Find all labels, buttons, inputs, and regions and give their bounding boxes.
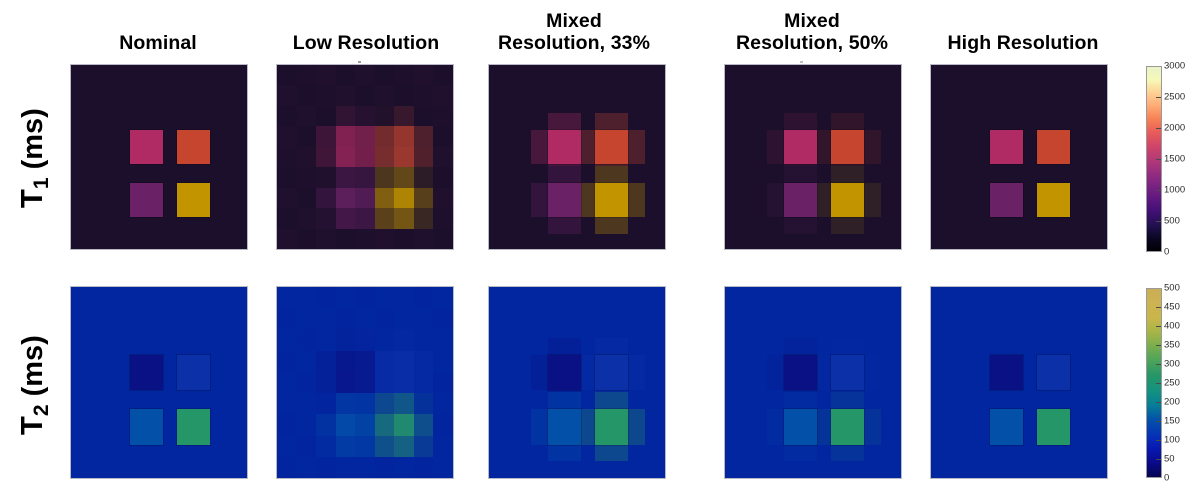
colorbar-tick-label: 200 xyxy=(1164,397,1180,408)
heatmap-vial-bottom-right xyxy=(831,409,864,444)
heatmap-blur-halo xyxy=(548,166,581,183)
heatmap-vial-top-right xyxy=(1037,355,1070,390)
colorbar-tick-mark xyxy=(1156,459,1161,460)
heatmap-blur-halo xyxy=(831,338,864,355)
heatmap-pixel xyxy=(355,351,375,373)
heatmap-pixel xyxy=(414,457,434,479)
heatmap-blur-halo xyxy=(628,130,645,164)
heatmap-pixel xyxy=(297,393,317,415)
heatmap-pixel xyxy=(336,126,356,147)
heatmap-blur-halo xyxy=(767,409,784,444)
heatmap-pixel xyxy=(375,229,395,250)
heatmap-pixel xyxy=(355,229,375,250)
heatmap-vial-top-left xyxy=(990,355,1023,390)
heatmap-vial-bottom-left xyxy=(548,409,581,444)
heatmap-pixel xyxy=(336,351,356,373)
row-label-t1-unit: (ms) xyxy=(17,108,49,177)
heatmap-vial-top-right xyxy=(1037,130,1070,164)
heatmap-blur-halo xyxy=(864,183,881,217)
figure-canvas: T1 (ms) T2 (ms) Nominal Low Resolution M… xyxy=(0,0,1199,499)
heatmap-pixel xyxy=(316,208,336,229)
heatmap-blur-halo xyxy=(595,338,628,355)
heatmap-pixel xyxy=(297,329,317,351)
heatmap-pixel xyxy=(375,329,395,351)
heatmap-pixel xyxy=(355,167,375,188)
heatmap-pixel xyxy=(414,393,434,415)
colorbar-tick-label: 250 xyxy=(1164,378,1180,389)
heatmap-pixel xyxy=(355,457,375,479)
heatmap-pixel xyxy=(355,126,375,147)
heatmap-pixel xyxy=(394,167,414,188)
heatmap-pixel xyxy=(375,393,395,415)
artifact-speck-mixed-50 xyxy=(800,61,803,63)
heatmap-pixel xyxy=(336,167,356,188)
heatmap-pixel xyxy=(336,65,356,86)
heatmap-blur-halo xyxy=(784,113,817,130)
heatmap-pixel xyxy=(414,229,434,250)
heatmap-pixel xyxy=(316,106,336,127)
heatmap-vial-top-left xyxy=(130,355,163,390)
heatmap-pixel xyxy=(277,436,297,458)
heatmap-pixel xyxy=(355,85,375,106)
heatmap-pixel xyxy=(316,351,336,373)
heatmap-pixel xyxy=(355,188,375,209)
heatmap-pixel xyxy=(316,457,336,479)
artifact-speck-low-res xyxy=(358,61,361,63)
heatmap-pixel xyxy=(316,65,336,86)
heatmap-pixel xyxy=(375,414,395,436)
row-axis-label-t2: T2 (ms) xyxy=(14,285,54,485)
heatmap-pixel xyxy=(355,106,375,127)
heatmap-pixel xyxy=(277,106,297,127)
heatmap-pixel xyxy=(355,329,375,351)
colorbar-tick-label: 500 xyxy=(1164,216,1180,227)
heatmap-pixel xyxy=(277,167,297,188)
heatmap-blur-halo xyxy=(595,217,628,234)
heatmap-pixel xyxy=(297,351,317,373)
heatmap-pixel xyxy=(336,106,356,127)
heatmap-pixel xyxy=(394,85,414,106)
row-label-t1-sub: 1 xyxy=(30,177,53,189)
heatmap-blur-halo xyxy=(531,409,548,444)
heatmap-vial-bottom-right xyxy=(595,183,628,217)
heatmap-blur-halo xyxy=(784,338,817,355)
colorbar-tick-mark xyxy=(1156,383,1161,384)
heatmap-pixel xyxy=(355,65,375,86)
heatmap-pixel xyxy=(277,351,297,373)
heatmap-vial-top-right xyxy=(595,355,628,390)
heatmap-blur-halo xyxy=(831,166,864,183)
heatmap-pixel xyxy=(433,208,453,229)
colorbar-tick-label: 300 xyxy=(1164,359,1180,370)
heatmap-blur-halo xyxy=(864,409,881,444)
heatmap-pixel xyxy=(394,229,414,250)
heatmap-pixel xyxy=(277,393,297,415)
colorbar-tick-mark xyxy=(1156,440,1161,441)
heatmap-pixel xyxy=(277,457,297,479)
heatmap-pixel xyxy=(433,147,453,168)
row-axis-label-t1: T1 (ms) xyxy=(14,58,54,258)
heatmap-pixel xyxy=(433,329,453,351)
heatmap-pixel xyxy=(433,106,453,127)
heatmap-blur-halo xyxy=(784,217,817,234)
heatmap-blur-halo xyxy=(831,392,864,409)
row-label-t2-main: T xyxy=(14,416,49,435)
colorbar-tick-label: 100 xyxy=(1164,435,1180,446)
heatmap-pixel xyxy=(277,188,297,209)
colorbar-tick-label: 150 xyxy=(1164,416,1180,427)
heatmap-vial-bottom-left xyxy=(990,183,1023,217)
heatmap-pixel xyxy=(277,208,297,229)
heatmap-blur-halo xyxy=(579,130,596,164)
heatmap-pixel xyxy=(355,393,375,415)
heatmap-blur-halo xyxy=(595,166,628,183)
colorbar-tick-mark xyxy=(1156,402,1161,403)
panel-t2-high-res xyxy=(930,286,1108,479)
heatmap-pixel xyxy=(355,287,375,309)
heatmap-pixel xyxy=(375,208,395,229)
heatmap-pixel xyxy=(277,65,297,86)
heatmap-blur-halo xyxy=(531,130,548,164)
heatmap-pixel xyxy=(316,436,336,458)
heatmap-blur-halo xyxy=(595,113,628,130)
heatmap-pixel xyxy=(336,457,356,479)
heatmap-pixel xyxy=(394,147,414,168)
heatmap-pixel xyxy=(355,208,375,229)
heatmap-pixel xyxy=(433,457,453,479)
colorbar-tick-mark xyxy=(1156,326,1161,327)
heatmap-pixel xyxy=(277,372,297,394)
colorbar-tick-label: 450 xyxy=(1164,302,1180,313)
heatmap-blur-halo xyxy=(831,113,864,130)
heatmap-pixel xyxy=(355,414,375,436)
heatmap-pixel xyxy=(433,167,453,188)
heatmap-pixel xyxy=(414,147,434,168)
heatmap-pixel xyxy=(394,188,414,209)
colorbar-tick-mark xyxy=(1156,345,1161,346)
column-title-nominal-line1: Nominal xyxy=(70,33,246,55)
heatmap-pixel xyxy=(336,147,356,168)
column-title-mixed-33: Mixed Resolution, 33% xyxy=(480,11,668,55)
heatmap-pixel xyxy=(277,229,297,250)
heatmap-pixel xyxy=(316,414,336,436)
column-title-mixed-50: Mixed Resolution, 50% xyxy=(718,11,906,55)
heatmap-vial-bottom-left xyxy=(548,183,581,217)
heatmap-pixel xyxy=(433,393,453,415)
heatmap-pixel xyxy=(336,308,356,330)
heatmap-pixel xyxy=(336,208,356,229)
column-title-mixed-50-line1: Mixed xyxy=(718,11,906,33)
heatmap-pixel xyxy=(297,126,317,147)
colorbar-tick-label: 50 xyxy=(1164,454,1175,465)
heatmap-blur-halo xyxy=(864,355,881,390)
heatmap-pixel xyxy=(394,372,414,394)
colorbar-tick-label: 2000 xyxy=(1164,123,1185,134)
panel-t2-low-res xyxy=(276,286,454,479)
heatmap-pixel xyxy=(414,436,434,458)
heatmap-vial-bottom-right xyxy=(1037,409,1070,444)
heatmap-pixel xyxy=(336,188,356,209)
heatmap-pixel xyxy=(375,167,395,188)
colorbar-tick-label: 350 xyxy=(1164,340,1180,351)
column-title-low-res: Low Resolution xyxy=(276,33,456,55)
heatmap-pixel xyxy=(297,65,317,86)
heatmap-pixel xyxy=(394,393,414,415)
heatmap-blur-halo xyxy=(548,392,581,409)
row-label-t2-unit: (ms) xyxy=(17,335,49,404)
heatmap-blur-halo xyxy=(595,392,628,409)
heatmap-vial-bottom-left xyxy=(784,183,817,217)
heatmap-blur-halo xyxy=(864,130,881,164)
heatmap-pixel xyxy=(336,229,356,250)
heatmap-pixel xyxy=(336,372,356,394)
heatmap-pixel xyxy=(375,351,395,373)
colorbar-tick-label: 0 xyxy=(1164,473,1169,484)
heatmap-pixel xyxy=(375,126,395,147)
heatmap-pixel xyxy=(433,126,453,147)
heatmap-pixel xyxy=(394,414,414,436)
heatmap-blur-halo xyxy=(767,355,784,390)
row-label-t2-sub: 2 xyxy=(30,404,53,416)
heatmap-vial-bottom-right xyxy=(595,409,628,444)
heatmap-pixel xyxy=(297,457,317,479)
heatmap-pixel xyxy=(414,65,434,86)
row-label-t1-main: T xyxy=(14,189,49,208)
heatmap-vial-bottom-left xyxy=(130,409,163,444)
heatmap-blur-halo xyxy=(548,217,581,234)
heatmap-pixel xyxy=(277,329,297,351)
heatmap-vial-top-right xyxy=(831,130,864,164)
heatmap-pixel xyxy=(277,147,297,168)
column-title-high-res: High Resolution xyxy=(930,33,1116,55)
heatmap-pixel xyxy=(433,287,453,309)
heatmap-pixel xyxy=(297,147,317,168)
heatmap-pixel xyxy=(394,126,414,147)
heatmap-pixel xyxy=(336,393,356,415)
heatmap-pixel xyxy=(355,147,375,168)
heatmap-pixel xyxy=(297,308,317,330)
heatmap-pixel xyxy=(433,229,453,250)
panel-t2-mixed-50 xyxy=(724,286,902,479)
heatmap-vial-top-left xyxy=(784,355,817,390)
heatmap-vial-top-left xyxy=(548,355,581,390)
heatmap-pixel xyxy=(336,85,356,106)
heatmap-vial-bottom-left xyxy=(784,409,817,444)
heatmap-pixel xyxy=(414,167,434,188)
colorbar-tick-label: 3000 xyxy=(1164,61,1185,72)
heatmap-pixel xyxy=(394,106,414,127)
heatmap-blur-halo xyxy=(784,445,817,462)
heatmap-blur-halo xyxy=(784,166,817,183)
heatmap-blur-halo xyxy=(548,113,581,130)
heatmap-pixel xyxy=(277,287,297,309)
heatmap-pixel xyxy=(336,329,356,351)
column-title-mixed-33-line2: Resolution, 33% xyxy=(480,33,668,55)
heatmap-pixel xyxy=(394,329,414,351)
colorbar-tick-label: 500 xyxy=(1164,283,1180,294)
heatmap-blur-halo xyxy=(595,445,628,462)
heatmap-pixel xyxy=(316,229,336,250)
heatmap-vial-top-left xyxy=(784,130,817,164)
heatmap-blur-halo xyxy=(579,355,596,390)
heatmap-pixel xyxy=(297,106,317,127)
colorbar-tick-mark xyxy=(1156,364,1161,365)
heatmap-pixel xyxy=(297,372,317,394)
colorbar-tick-label: 1000 xyxy=(1164,185,1185,196)
heatmap-vial-top-right xyxy=(177,355,210,390)
heatmap-blur-halo xyxy=(767,130,784,164)
heatmap-pixel xyxy=(414,106,434,127)
heatmap-pixel xyxy=(297,167,317,188)
heatmap-vial-top-left xyxy=(130,130,163,164)
heatmap-blur-halo xyxy=(531,355,548,390)
heatmap-pixel xyxy=(316,287,336,309)
heatmap-pixel xyxy=(414,414,434,436)
heatmap-pixel xyxy=(316,393,336,415)
heatmap-pixel xyxy=(414,287,434,309)
heatmap-pixel xyxy=(375,106,395,127)
column-title-nominal: Nominal xyxy=(70,33,246,55)
colorbar-t2: 050100150200250300350400450500 xyxy=(1146,288,1198,478)
heatmap-vial-bottom-right xyxy=(831,183,864,217)
heatmap-pixel xyxy=(394,308,414,330)
panel-t1-high-res xyxy=(930,64,1108,250)
heatmap-pixel xyxy=(297,287,317,309)
heatmap-pixel xyxy=(355,436,375,458)
heatmap-pixel xyxy=(277,126,297,147)
heatmap-blur-halo xyxy=(628,355,645,390)
heatmap-pixel xyxy=(414,351,434,373)
heatmap-vial-top-left xyxy=(548,130,581,164)
heatmap-pixel xyxy=(375,287,395,309)
heatmap-pixel xyxy=(433,308,453,330)
panel-t2-mixed-33 xyxy=(488,286,666,479)
heatmap-pixel xyxy=(316,85,336,106)
heatmap-pixel xyxy=(316,147,336,168)
column-title-mixed-33-line1: Mixed xyxy=(480,11,668,33)
panel-t1-low-res xyxy=(276,64,454,250)
heatmap-blur-halo xyxy=(548,445,581,462)
heatmap-pixel xyxy=(316,329,336,351)
heatmap-pixel xyxy=(375,147,395,168)
colorbar-tick-mark xyxy=(1156,190,1161,191)
heatmap-pixel xyxy=(277,414,297,436)
heatmap-pixel xyxy=(394,65,414,86)
heatmap-pixel xyxy=(297,85,317,106)
panel-t1-nominal xyxy=(70,64,248,250)
colorbar-t1: 050010001500200025003000 xyxy=(1146,66,1198,252)
heatmap-pixel xyxy=(433,414,453,436)
heatmap-vial-top-left xyxy=(990,130,1023,164)
heatmap-pixel xyxy=(414,308,434,330)
heatmap-pixel xyxy=(433,85,453,106)
heatmap-blur-halo xyxy=(815,355,832,390)
heatmap-pixel xyxy=(394,436,414,458)
heatmap-blur-halo xyxy=(784,392,817,409)
colorbar-tick-mark xyxy=(1156,221,1161,222)
panel-t1-mixed-33 xyxy=(488,64,666,250)
heatmap-blur-halo xyxy=(548,338,581,355)
panel-t1-mixed-50 xyxy=(724,64,902,250)
heatmap-pixel xyxy=(414,372,434,394)
heatmap-vial-bottom-left xyxy=(130,183,163,217)
heatmap-pixel xyxy=(394,457,414,479)
heatmap-pixel xyxy=(297,436,317,458)
heatmap-vial-bottom-right xyxy=(1037,183,1070,217)
panel-t2-nominal xyxy=(70,286,248,479)
colorbar-tick-mark xyxy=(1156,159,1161,160)
heatmap-blur-halo xyxy=(815,409,832,444)
heatmap-pixel xyxy=(316,126,336,147)
heatmap-pixel xyxy=(433,188,453,209)
heatmap-pixel xyxy=(336,436,356,458)
heatmap-pixel xyxy=(375,308,395,330)
heatmap-blur-halo xyxy=(628,409,645,444)
colorbar-tick-mark xyxy=(1156,307,1161,308)
heatmap-pixel xyxy=(375,188,395,209)
heatmap-blur-halo xyxy=(767,183,784,217)
heatmap-pixel xyxy=(336,414,356,436)
heatmap-pixel xyxy=(375,436,395,458)
heatmap-pixel xyxy=(316,308,336,330)
column-title-low-res-line1: Low Resolution xyxy=(276,33,456,55)
heatmap-blur-halo xyxy=(628,183,645,217)
heatmap-pixel xyxy=(394,208,414,229)
heatmap-blur-halo xyxy=(831,217,864,234)
colorbar-tick-label: 2500 xyxy=(1164,92,1185,103)
heatmap-blur-halo xyxy=(815,183,832,217)
heatmap-pixel xyxy=(394,287,414,309)
heatmap-pixel xyxy=(433,351,453,373)
heatmap-pixel xyxy=(277,85,297,106)
heatmap-pixel xyxy=(375,85,395,106)
colorbar-tick-mark xyxy=(1156,128,1161,129)
heatmap-pixel xyxy=(414,188,434,209)
heatmap-pixel xyxy=(375,65,395,86)
heatmap-pixel xyxy=(316,188,336,209)
heatmap-pixel xyxy=(394,351,414,373)
heatmap-vial-top-right xyxy=(595,130,628,164)
heatmap-blur-halo xyxy=(831,445,864,462)
heatmap-vial-top-right xyxy=(831,355,864,390)
heatmap-pixel xyxy=(433,436,453,458)
heatmap-pixel xyxy=(414,126,434,147)
colorbar-tick-mark xyxy=(1156,421,1161,422)
colorbar-tick-label: 0 xyxy=(1164,247,1169,258)
heatmap-pixel xyxy=(336,287,356,309)
column-title-mixed-50-line2: Resolution, 50% xyxy=(718,33,906,55)
heatmap-vial-top-right xyxy=(177,130,210,164)
heatmap-pixel xyxy=(375,372,395,394)
heatmap-vial-bottom-left xyxy=(990,409,1023,444)
heatmap-pixel xyxy=(297,208,317,229)
heatmap-blur-halo xyxy=(531,183,548,217)
heatmap-vial-bottom-right xyxy=(177,183,210,217)
heatmap-pixel xyxy=(297,414,317,436)
heatmap-pixel xyxy=(355,372,375,394)
column-title-high-res-line1: High Resolution xyxy=(930,33,1116,55)
heatmap-blur-halo xyxy=(579,183,596,217)
heatmap-pixel xyxy=(414,208,434,229)
heatmap-pixel xyxy=(355,308,375,330)
heatmap-pixel xyxy=(316,167,336,188)
heatmap-pixel xyxy=(277,308,297,330)
heatmap-pixel xyxy=(433,372,453,394)
heatmap-pixel xyxy=(414,329,434,351)
heatmap-pixel xyxy=(297,229,317,250)
heatmap-vial-bottom-right xyxy=(177,409,210,444)
colorbar-tick-label: 400 xyxy=(1164,321,1180,332)
